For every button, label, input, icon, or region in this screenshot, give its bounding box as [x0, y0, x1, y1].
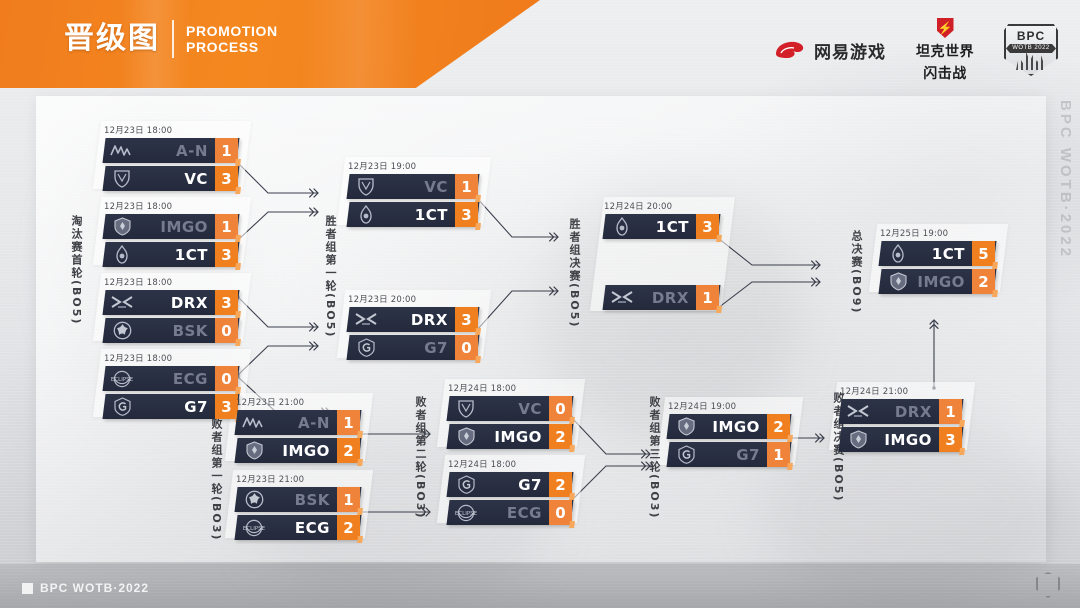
score-corner-accent: [235, 339, 241, 346]
score-corner-accent: [235, 159, 241, 166]
match-time: 12月24日 18:00: [448, 458, 572, 470]
score-corner-accent: [569, 417, 575, 424]
match-card[interactable]: 12月24日 20:001CT3DRX1: [604, 200, 719, 313]
team-name: A-N: [267, 414, 337, 432]
score-corner-accent: [235, 187, 241, 194]
team-name: IMGO: [267, 442, 337, 460]
match-time: 12月25日 19:00: [880, 227, 995, 239]
match-team-row[interactable]: IMGO2: [666, 414, 791, 439]
match-rows: IMGO2G71: [668, 414, 790, 467]
score-corner-accent: [959, 420, 965, 427]
match-card[interactable]: 12月23日 21:00BSK1ECLIPSEECG2: [236, 473, 360, 543]
imgo-logo-icon: [845, 430, 871, 449]
team-score: 0: [549, 500, 572, 525]
team-score: 1: [939, 399, 962, 424]
match-card[interactable]: 12月23日 18:00A-N1VC3: [104, 124, 238, 194]
team-name: BSK: [135, 322, 215, 340]
team-name: DRX: [379, 311, 455, 329]
team-name: 1CT: [635, 218, 696, 236]
imgo-logo-icon: [885, 272, 911, 291]
match-team-row[interactable]: G70: [346, 335, 479, 360]
match-time: 12月23日 18:00: [104, 200, 238, 212]
netease-logo-icon: 网易游戏: [773, 38, 886, 63]
match-time: 12月23日 18:00: [104, 276, 238, 288]
team-name: DRX: [135, 294, 215, 312]
match-rows: A-N1VC3: [104, 138, 238, 191]
svg-text:ECLIPSE: ECLIPSE: [455, 511, 478, 517]
footer-brand: BPC WOTB·2022: [22, 581, 149, 595]
score-corner-accent: [475, 328, 481, 335]
match-card[interactable]: 12月24日 18:00VC0IMGO2: [448, 382, 572, 452]
score-corner-accent: [357, 508, 363, 515]
stage-label-grand: 总决赛(BO9): [848, 230, 864, 314]
imgo-logo-icon: [109, 217, 135, 236]
imgo-logo-icon: [673, 417, 699, 436]
team-name: VC: [135, 170, 215, 188]
team-score: 2: [549, 424, 572, 449]
score-corner-accent: [235, 235, 241, 242]
score-corner-accent: [569, 493, 575, 500]
team-score: 0: [215, 366, 238, 391]
match-rows: DRX1IMGO3: [840, 399, 962, 452]
match-card[interactable]: 12月23日 18:00ECLIPSEECG0G73: [104, 352, 238, 422]
score-corner-accent: [475, 223, 481, 230]
team-score: 3: [455, 307, 478, 332]
lightning-icon: ⚡: [938, 21, 953, 36]
team-name: DRX: [871, 403, 939, 421]
match-team-row[interactable]: ECLIPSEECG0: [446, 500, 573, 525]
match-team-row[interactable]: DRX1: [838, 399, 963, 424]
team-score: 2: [972, 269, 995, 294]
team-name: IMGO: [871, 431, 939, 449]
page-subtitle-line2: PROCESS: [186, 39, 278, 55]
1ct-logo-icon: [109, 245, 135, 264]
g7-logo-icon: [109, 397, 135, 416]
team-name: 1CT: [379, 206, 455, 224]
netease-label: 网易游戏: [814, 38, 886, 63]
score-corner-accent: [787, 435, 793, 442]
team-score: 5: [972, 241, 995, 266]
ecg-logo-icon: ECLIPSE: [241, 518, 267, 537]
score-corner-accent: [959, 448, 965, 455]
match-card[interactable]: 12月23日 20:00DRX3G70: [348, 293, 478, 363]
match-team-row[interactable]: ECLIPSEECG0: [102, 366, 239, 391]
team-name: ECG: [267, 519, 337, 537]
vc-logo-icon: [109, 169, 135, 188]
team-score: 3: [215, 242, 238, 267]
g7-logo-icon: [353, 338, 379, 357]
team-name: BSK: [267, 491, 337, 509]
match-team-row[interactable]: 1CT3: [346, 202, 479, 227]
team-name: G7: [479, 476, 549, 494]
team-score: 1: [337, 410, 360, 435]
team-name: G7: [135, 398, 215, 416]
score-corner-accent: [475, 356, 481, 363]
team-name: ECG: [135, 370, 215, 388]
score-corner-accent: [357, 536, 363, 543]
team-score: 1: [455, 174, 478, 199]
score-corner-accent: [357, 459, 363, 466]
team-name: G7: [379, 339, 455, 357]
stage-label-wb-f: 胜者组决赛(BO5): [566, 218, 582, 328]
match-team-row[interactable]: IMGO3: [838, 427, 963, 452]
team-score: 3: [696, 214, 719, 239]
drx-logo-icon: [353, 310, 379, 329]
team-score: 3: [215, 394, 238, 419]
match-card[interactable]: 12月23日 18:00IMGO11CT3: [104, 200, 238, 270]
match-team-row[interactable]: VC1: [346, 174, 479, 199]
match-time: 12月23日 18:00: [104, 124, 238, 136]
team-name: VC: [379, 178, 455, 196]
match-team-row[interactable]: VC3: [102, 166, 239, 191]
match-card[interactable]: 12月23日 18:00DRX3BSK0: [104, 276, 238, 346]
match-team-row[interactable]: IMGO2: [878, 269, 996, 294]
score-corner-accent: [235, 387, 241, 394]
team-score: 1: [767, 442, 790, 467]
bsk-logo-icon: [241, 490, 267, 509]
team-name: IMGO: [911, 273, 972, 291]
bpc-ribbon: WOTB 2022: [1006, 44, 1056, 53]
match-rows: A-N1IMGO2: [236, 410, 360, 463]
match-time: 12月23日 20:00: [348, 293, 478, 305]
title-divider: [172, 20, 174, 58]
match-card[interactable]: 12月24日 21:00DRX1IMGO3: [840, 385, 962, 455]
match-team-row[interactable]: DRX3: [102, 290, 239, 315]
match-team-row[interactable]: 1CT3: [102, 242, 239, 267]
match-team-row[interactable]: 1CT5: [878, 241, 996, 266]
score-corner-accent: [716, 235, 722, 242]
wot-line1: 坦克世界: [916, 45, 974, 60]
team-score: 1: [696, 285, 719, 310]
vc-logo-icon: [353, 177, 379, 196]
1ct-logo-icon: [353, 205, 379, 224]
match-team-row[interactable]: DRX3: [346, 307, 479, 332]
match-rows: 1CT3DRX1: [604, 214, 719, 310]
drx-logo-icon: [109, 293, 135, 312]
bpc-title: BPC: [1004, 29, 1058, 43]
1ct-logo-icon: [609, 217, 635, 236]
match-team-row[interactable]: IMGO2: [234, 438, 361, 463]
score-corner-accent: [475, 195, 481, 202]
team-name: IMGO: [699, 418, 767, 436]
match-rows: VC11CT3: [348, 174, 478, 227]
match-time: 12月24日 20:00: [604, 200, 719, 212]
team-score: 3: [455, 202, 478, 227]
score-corner-accent: [716, 306, 722, 313]
team-score: 1: [215, 214, 238, 239]
footer-bar: [0, 564, 1080, 608]
team-score: 0: [215, 318, 238, 343]
footer-label: BPC WOTB·2022: [40, 581, 149, 595]
match-time: 12月23日 18:00: [104, 352, 238, 364]
match-card[interactable]: 12月24日 18:00G72ECLIPSEECG0: [448, 458, 572, 528]
score-corner-accent: [992, 262, 998, 269]
drx-logo-icon: [609, 288, 635, 307]
score-corner-accent: [235, 263, 241, 270]
svg-text:ECLIPSE: ECLIPSE: [111, 377, 134, 383]
match-rows: 1CT5IMGO2: [880, 241, 995, 294]
team-score: 0: [455, 335, 478, 360]
bpc-badge-icon: BPC WOTB 2022: [1004, 24, 1058, 76]
wot-line2: 闪击战: [923, 67, 967, 82]
team-name: 1CT: [135, 246, 215, 264]
match-time: 12月24日 21:00: [840, 385, 962, 397]
team-score: 3: [939, 427, 962, 452]
team-score: 1: [337, 487, 360, 512]
match-time: 12月24日 19:00: [668, 400, 790, 412]
match-rows: ECLIPSEECG0G73: [104, 366, 238, 419]
match-team-row[interactable]: 1CT3: [602, 214, 720, 239]
ecg-logo-icon: ECLIPSE: [453, 503, 479, 522]
match-card[interactable]: 12月23日 19:00VC11CT3: [348, 160, 478, 230]
team-score: 3: [215, 166, 238, 191]
imgo-logo-icon: [241, 441, 267, 460]
match-rows: G72ECLIPSEECG0: [448, 472, 572, 525]
team-score: 0: [549, 396, 572, 421]
team-name: VC: [479, 400, 549, 418]
match-time: 12月23日 21:00: [236, 473, 360, 485]
ecg-logo-icon: ECLIPSE: [109, 369, 135, 388]
score-corner-accent: [787, 463, 793, 470]
footer-square-icon: [22, 583, 33, 594]
drx-logo-icon: [845, 402, 871, 421]
team-name: ECG: [479, 504, 549, 522]
match-team-row[interactable]: G72: [446, 472, 573, 497]
team-score: 2: [337, 515, 360, 540]
team-name: 1CT: [911, 245, 972, 263]
page-title: 晋级图: [64, 23, 160, 55]
score-corner-accent: [569, 445, 575, 452]
match-card[interactable]: 12月25日 19:001CT5IMGO2: [880, 227, 995, 297]
match-time: 12月23日 19:00: [348, 160, 478, 172]
team-score: 2: [549, 472, 572, 497]
score-corner-accent: [357, 431, 363, 438]
stage-label-ko-r1: 淘汰赛首轮(BO5): [68, 215, 84, 325]
stage-label-wb-r1: 胜者组第一轮(BO5): [322, 215, 338, 338]
match-team-row[interactable]: IMGO2: [446, 424, 573, 449]
match-card[interactable]: 12月23日 21:00A-N1IMGO2: [236, 396, 360, 466]
team-name: IMGO: [135, 218, 215, 236]
vc-logo-icon: [453, 399, 479, 418]
match-team-row[interactable]: DRX1: [602, 285, 720, 310]
bsk-logo-icon: [109, 321, 135, 340]
match-time: 12月24日 18:00: [448, 382, 572, 394]
page-subtitle-line1: PROMOTION: [186, 23, 278, 39]
match-time: 12月23日 21:00: [236, 396, 360, 408]
match-rows: IMGO11CT3: [104, 214, 238, 267]
team-score: 2: [337, 438, 360, 463]
team-score: 1: [215, 138, 238, 163]
match-team-row[interactable]: IMGO1: [102, 214, 239, 239]
svg-text:ECLIPSE: ECLIPSE: [243, 526, 266, 532]
team-score: 3: [215, 290, 238, 315]
match-rows: BSK1ECLIPSEECG2: [236, 487, 360, 540]
match-team-row[interactable]: BSK0: [102, 318, 239, 343]
match-rows: DRX3BSK0: [104, 290, 238, 343]
stage-label-lb-r1: 败者组第一轮(BO3): [208, 418, 224, 541]
match-team-row[interactable]: BSK1: [234, 487, 361, 512]
g7-logo-icon: [673, 445, 699, 464]
match-team-row[interactable]: A-N1: [102, 138, 239, 163]
team-name: DRX: [635, 289, 696, 307]
match-card[interactable]: 12月24日 19:00IMGO2G71: [668, 400, 790, 470]
g7-logo-icon: [453, 475, 479, 494]
score-corner-accent: [992, 290, 998, 297]
match-team-row[interactable]: A-N1: [234, 410, 361, 435]
score-corner-accent: [235, 311, 241, 318]
stage-label-lb-r2: 败者组第二轮(BO3): [412, 396, 428, 519]
a-n-logo-icon: [241, 413, 267, 432]
team-name: IMGO: [479, 428, 549, 446]
1ct-logo-icon: [885, 244, 911, 263]
team-name: A-N: [135, 142, 215, 160]
a-n-logo-icon: [109, 141, 135, 160]
stage-label-lb-r3: 败者组第三轮(BO3): [646, 396, 662, 519]
match-rows: DRX3G70: [348, 307, 478, 360]
imgo-logo-icon: [453, 427, 479, 446]
match-team-row[interactable]: G73: [102, 394, 239, 419]
match-team-row[interactable]: ECLIPSEECG2: [234, 515, 361, 540]
team-score: 2: [767, 414, 790, 439]
match-team-row[interactable]: G71: [666, 442, 791, 467]
match-rows: VC0IMGO2: [448, 396, 572, 449]
wot-blitz-logo-icon: ⚡ 坦克世界 闪击战: [916, 18, 974, 82]
match-team-row[interactable]: VC0: [446, 396, 573, 421]
score-corner-accent: [569, 521, 575, 528]
team-name: G7: [699, 446, 767, 464]
